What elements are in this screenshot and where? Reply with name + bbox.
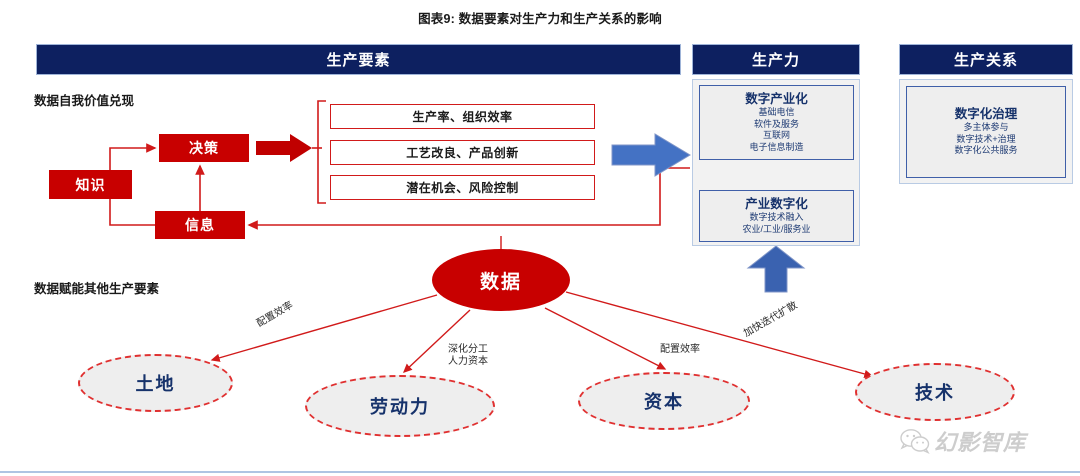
edge-label-to-labor: 深化分工 人力资本 [448, 344, 488, 368]
card-title: 数字产业化 [700, 92, 853, 107]
node-data-center: 数据 [432, 249, 570, 311]
bottom-divider [0, 471, 1080, 473]
diagram-canvas: 图表9: 数据要素对生产力和生产关系的影响 [0, 0, 1080, 476]
card-digital-industrialization: 数字产业化 基础电信 软件及服务 互联网 电子信息制造 [699, 85, 854, 160]
edge-label-to-technology: 加快迭代扩散 [742, 300, 800, 340]
label-data-empowering-other-factors: 数据赋能其他生产要素 [34, 278, 159, 297]
watermark: 幻影智库 [900, 425, 1026, 457]
node-knowledge: 知识 [49, 170, 132, 199]
blue-right-arrow [612, 134, 690, 176]
edge-label-to-land: 配置效率 [255, 300, 296, 330]
node-labor: 劳动力 [305, 375, 495, 437]
card-lines: 数字技术融入 农业/工业/服务业 [700, 212, 853, 235]
node-information: 信息 [155, 211, 245, 239]
card-industrial-digitalization: 产业数字化 数字技术融入 农业/工业/服务业 [699, 190, 854, 242]
page-title: 图表9: 数据要素对生产力和生产关系的影响 [0, 8, 1080, 27]
node-capital: 资本 [578, 372, 750, 430]
outcome-process-improvement-product-innovation: 工艺改良、产品创新 [330, 140, 595, 165]
header-production-relations: 生产关系 [899, 44, 1073, 75]
card-digital-governance: 数字化治理 多主体参与 数字技术+治理 数字化公共服务 [906, 86, 1066, 178]
node-technology: 技术 [855, 363, 1015, 421]
card-lines: 基础电信 软件及服务 互联网 电子信息制造 [700, 107, 853, 153]
edge-label-to-capital: 配置效率 [660, 344, 700, 356]
header-productivity: 生产力 [692, 44, 860, 75]
card-title: 产业数字化 [700, 197, 853, 212]
node-decision: 决策 [159, 134, 249, 162]
node-land: 土地 [78, 354, 233, 412]
card-title: 数字化治理 [907, 107, 1065, 122]
label-data-self-value-realization: 数据自我价值兑现 [34, 90, 134, 109]
watermark-text: 幻影智库 [934, 425, 1026, 457]
wechat-icon [900, 428, 930, 454]
card-lines: 多主体参与 数字技术+治理 数字化公共服务 [907, 122, 1065, 157]
header-factors-of-production: 生产要素 [36, 44, 681, 75]
blue-up-arrow [748, 246, 804, 292]
outcome-potential-opportunity-risk-control: 潜在机会、风险控制 [330, 175, 595, 200]
red-block-arrow [256, 134, 312, 162]
outcome-productivity-organizational-efficiency: 生产率、组织效率 [330, 104, 595, 129]
